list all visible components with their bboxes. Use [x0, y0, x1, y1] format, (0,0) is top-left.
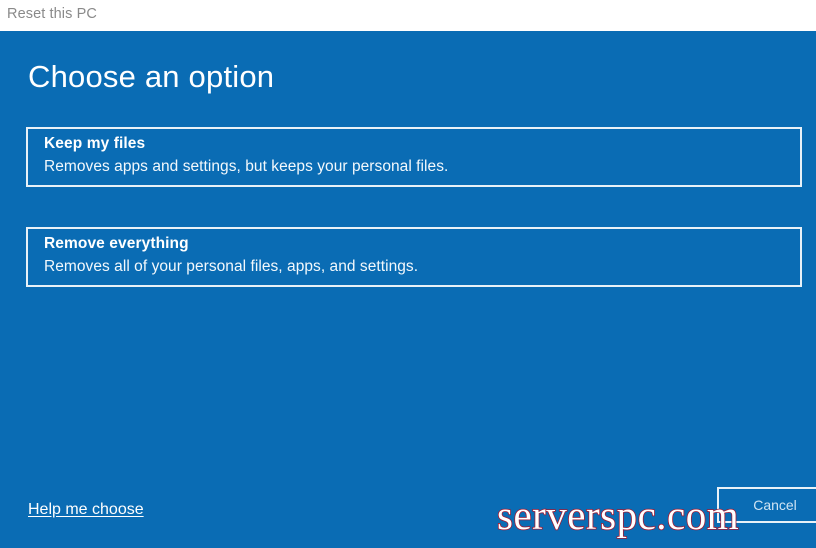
- page-title: Choose an option: [28, 59, 274, 95]
- window-title-bar: Reset this PC: [0, 0, 816, 31]
- watermark-overlay: serverspc.com: [497, 493, 739, 537]
- help-me-choose-link[interactable]: Help me choose: [28, 501, 144, 519]
- reset-this-pc-screen: Reset this PC Choose an option Keep my f…: [0, 0, 816, 548]
- option-title: Keep my files: [44, 135, 145, 153]
- option-description: Removes all of your personal files, apps…: [44, 258, 418, 276]
- cancel-button[interactable]: Cancel: [717, 487, 816, 523]
- option-description: Removes apps and settings, but keeps you…: [44, 158, 448, 176]
- window-title: Reset this PC: [7, 6, 97, 22]
- cancel-button-label: Cancel: [719, 497, 816, 513]
- option-keep-my-files[interactable]: Keep my files Removes apps and settings,…: [26, 127, 802, 187]
- option-remove-everything[interactable]: Remove everything Removes all of your pe…: [26, 227, 802, 287]
- recovery-canvas: Choose an option Keep my files Removes a…: [0, 31, 816, 548]
- option-title: Remove everything: [44, 235, 189, 253]
